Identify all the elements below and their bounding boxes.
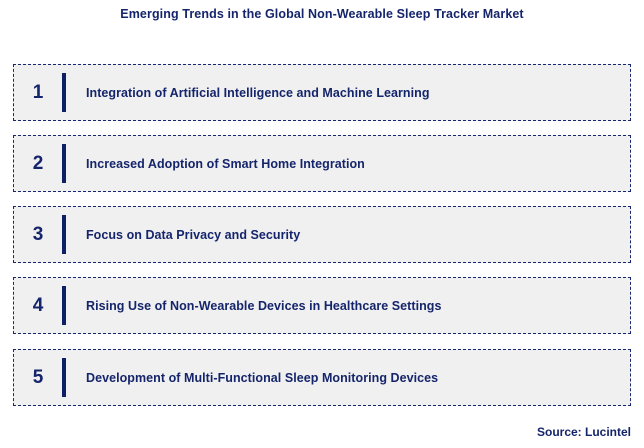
source-attribution: Source: Lucintel bbox=[537, 425, 631, 439]
trend-rank-number: 3 bbox=[14, 225, 62, 245]
trend-label: Integration of Artificial Intelligence a… bbox=[66, 86, 630, 100]
page-title: Emerging Trends in the Global Non-Wearab… bbox=[0, 7, 644, 21]
list-item: 5 Development of Multi-Functional Sleep … bbox=[13, 349, 631, 406]
trend-label: Rising Use of Non-Wearable Devices in He… bbox=[66, 299, 630, 313]
list-item: 3 Focus on Data Privacy and Security bbox=[13, 206, 631, 263]
trend-label: Development of Multi-Functional Sleep Mo… bbox=[66, 371, 630, 385]
trend-rank-number: 5 bbox=[14, 368, 62, 388]
list-item: 2 Increased Adoption of Smart Home Integ… bbox=[13, 135, 631, 192]
list-item: 4 Rising Use of Non-Wearable Devices in … bbox=[13, 277, 631, 334]
trend-rank-number: 1 bbox=[14, 83, 62, 103]
list-item: 1 Integration of Artificial Intelligence… bbox=[13, 64, 631, 121]
trend-rank-number: 2 bbox=[14, 154, 62, 174]
trend-label: Increased Adoption of Smart Home Integra… bbox=[66, 157, 630, 171]
trend-label: Focus on Data Privacy and Security bbox=[66, 228, 630, 242]
trend-list: 1 Integration of Artificial Intelligence… bbox=[13, 64, 631, 406]
trend-rank-number: 4 bbox=[14, 296, 62, 316]
trends-infographic: Emerging Trends in the Global Non-Wearab… bbox=[0, 0, 644, 448]
